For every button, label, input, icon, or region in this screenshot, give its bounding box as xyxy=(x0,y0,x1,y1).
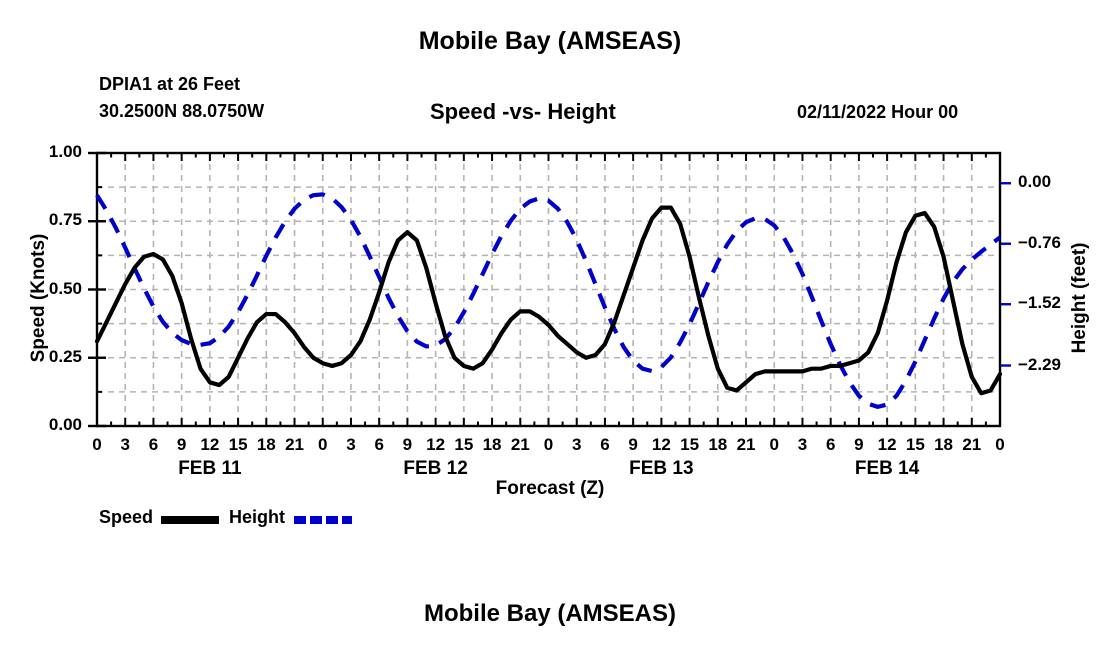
gridlines xyxy=(97,153,1000,426)
legend-swatch-height xyxy=(294,516,352,524)
x-axis-tick-label: 0 xyxy=(980,435,1020,455)
legend-swatch-speed xyxy=(161,516,219,524)
chart-page: Mobile Bay (AMSEAS) DPIA1 at 26 Feet 30.… xyxy=(0,0,1100,650)
x-axis-day-label: FEB 12 xyxy=(376,458,496,480)
y-axis-left-tick-label: 0.00 xyxy=(12,415,82,435)
x-axis-day-label: FEB 11 xyxy=(150,458,270,480)
y-axis-left-tick-label: 0.75 xyxy=(12,210,82,230)
legend-label-speed: Speed xyxy=(99,507,153,528)
footer-title: Mobile Bay (AMSEAS) xyxy=(0,600,1100,628)
y-axis-right-tick-label: −0.76 xyxy=(1018,233,1098,253)
y-axis-left-tick-label: 0.25 xyxy=(12,347,82,367)
plot-area xyxy=(0,0,1100,650)
x-axis-day-label: FEB 13 xyxy=(601,458,721,480)
y-axis-right-tick-label: 0.00 xyxy=(1018,172,1098,192)
y-axis-right-tick-label: −1.52 xyxy=(1018,293,1098,313)
x-axis-day-label: FEB 14 xyxy=(827,458,947,480)
y-axis-left-tick-label: 1.00 xyxy=(12,142,82,162)
y-axis-left-tick-label: 0.50 xyxy=(12,279,82,299)
y-axis-right-tick-label: −2.29 xyxy=(1018,355,1098,375)
legend-label-height: Height xyxy=(229,507,285,528)
